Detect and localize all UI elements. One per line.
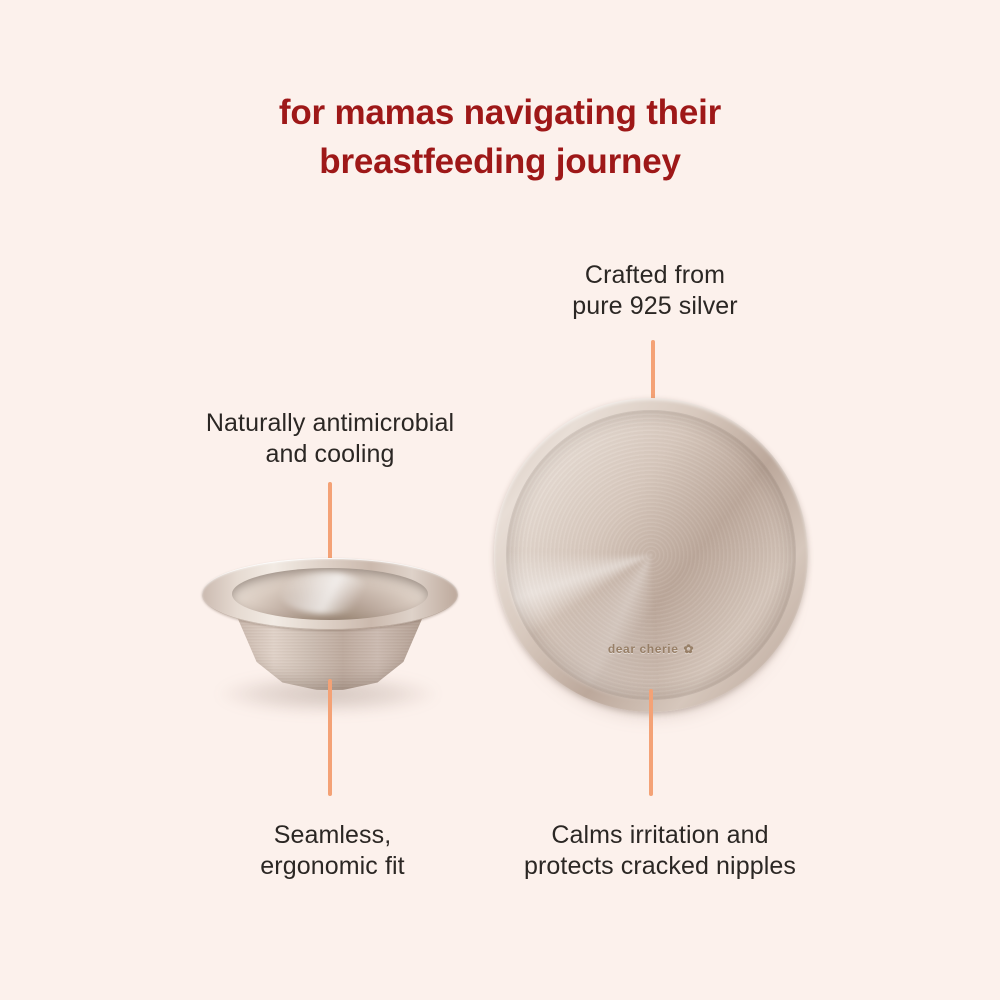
callout-label-calms: Calms irritation and protects cracked ni…: [470, 820, 850, 882]
page-title: for mamas navigating their breastfeeding…: [0, 88, 1000, 186]
callout-crafted-silver-line-2: pure 925 silver: [485, 291, 825, 322]
leader-line-ergonomic: [328, 679, 332, 796]
top-view-inner-seat-shadow: [506, 410, 796, 700]
callout-ergonomic-line-2: ergonomic fit: [215, 851, 450, 882]
side-view-rim-edge: [202, 558, 458, 630]
callout-crafted-silver-line-1: Crafted from: [485, 260, 825, 291]
leader-line-calms: [649, 689, 653, 796]
brand-engraving: dear cherie✿: [488, 642, 814, 656]
product-image-top-view: dear cherie✿: [488, 392, 814, 718]
callout-label-antimicrobial: Naturally antimicrobial and cooling: [155, 408, 505, 470]
callout-calms-line-1: Calms irritation and: [470, 820, 850, 851]
callout-antimicrobial-line-2: and cooling: [155, 439, 505, 470]
callout-ergonomic-line-1: Seamless,: [215, 820, 450, 851]
page-title-line-2: breastfeeding journey: [0, 137, 1000, 186]
callout-label-crafted-silver: Crafted from pure 925 silver: [485, 260, 825, 322]
callout-calms-line-2: protects cracked nipples: [470, 851, 850, 882]
product-feature-graphic: for mamas navigating their breastfeeding…: [0, 0, 1000, 1000]
brand-engraving-text: dear cherie: [608, 642, 679, 656]
page-title-line-1: for mamas navigating their: [279, 93, 721, 132]
callout-antimicrobial-line-1: Naturally antimicrobial: [155, 408, 505, 439]
flower-icon: ✿: [683, 642, 694, 656]
callout-label-ergonomic: Seamless, ergonomic fit: [215, 820, 450, 882]
